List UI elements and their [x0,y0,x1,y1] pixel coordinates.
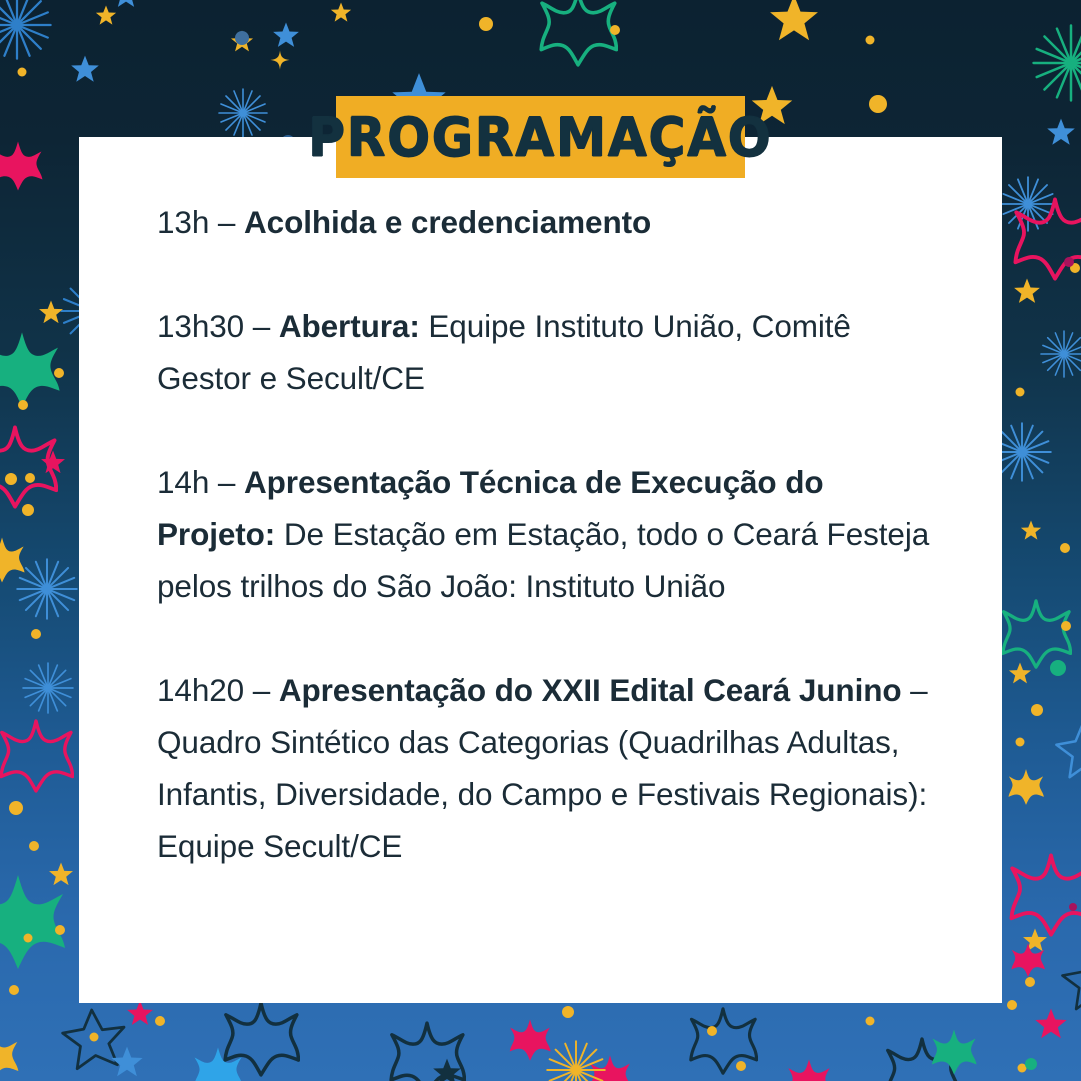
title-banner: PROGRAMAÇÃO [336,96,745,178]
schedule-entry-time: 13h [157,204,209,240]
schedule-entry-dash: – [209,464,244,500]
poster-root: PROGRAMAÇÃO 13h – Acolhida e credenciame… [0,0,1081,1081]
schedule-entry-time: 13h30 [157,308,244,344]
schedule-entry-dash: – [244,308,279,344]
schedule-entry-title: Apresentação do XXII Edital Ceará Junino [279,672,902,708]
schedule-entry-title: Abertura: [279,308,420,344]
schedule-entry-dash: – [209,204,244,240]
schedule-list: 13h – Acolhida e credenciamento 13h30 – … [157,196,947,872]
page-title: PROGRAMAÇÃO [308,110,772,163]
schedule-entry: 13h30 – Abertura: Equipe Instituto União… [157,300,947,404]
schedule-entry-title: Acolhida e credenciamento [244,204,651,240]
schedule-entry: 14h20 – Apresentação do XXII Edital Cear… [157,664,947,872]
schedule-entry-time: 14h [157,464,209,500]
schedule-entry: 14h – Apresentação Técnica de Execução d… [157,456,947,612]
schedule-entry: 13h – Acolhida e credenciamento [157,196,947,248]
schedule-entry-time: 14h20 [157,672,244,708]
schedule-entry-dash: – [244,672,279,708]
